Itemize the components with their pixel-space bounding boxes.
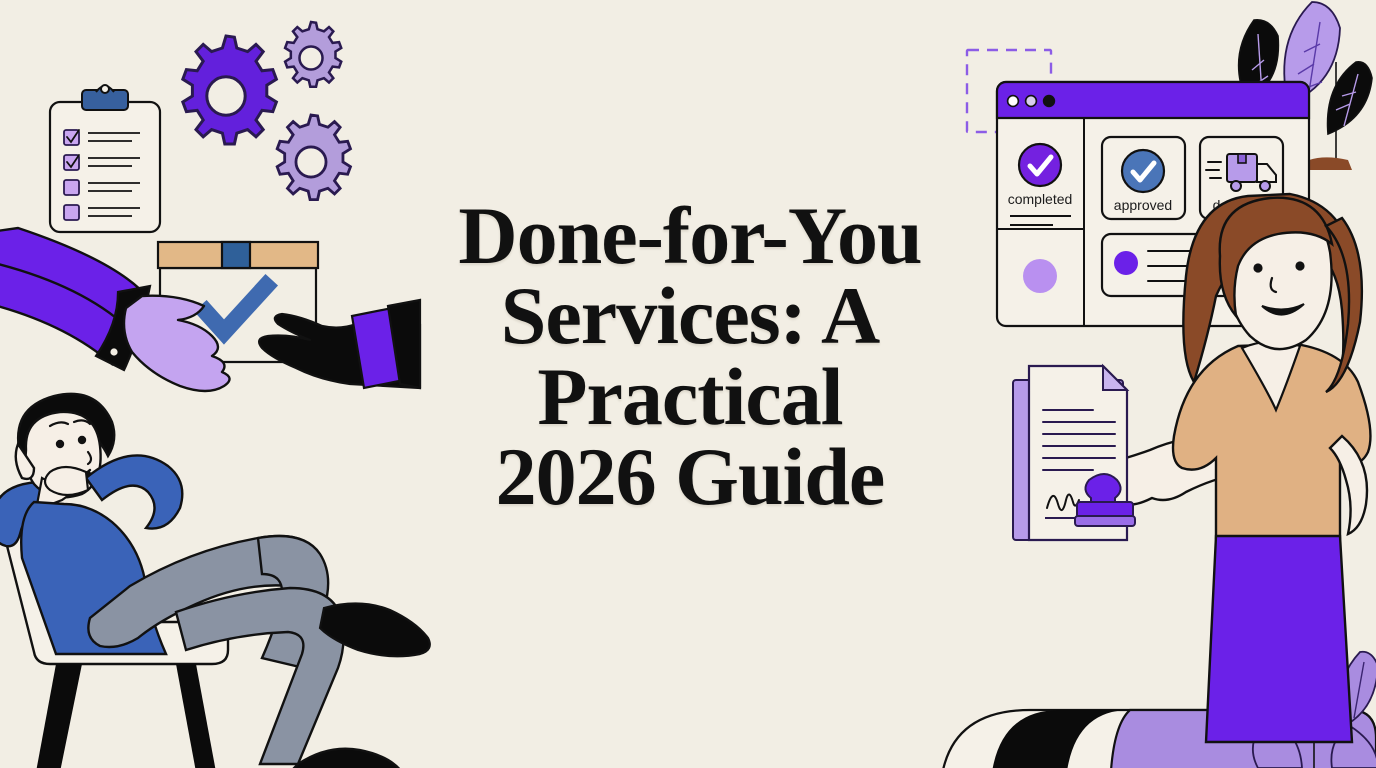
gear-small — [285, 22, 341, 87]
window-dot-2 — [1026, 96, 1037, 107]
headline-line-2: Services: A — [400, 276, 980, 356]
gear-large — [183, 36, 277, 144]
page-title: Done-for-You Services: A Practical 2026 … — [400, 196, 980, 517]
headline-line-3: Practical — [400, 357, 980, 437]
gears-group — [168, 22, 368, 218]
window-dot-1 — [1008, 96, 1019, 107]
gear-medium — [277, 115, 350, 200]
relaxed-man-in-chair — [0, 382, 470, 768]
headline-line-1: Done-for-You — [400, 196, 980, 276]
headline-line-4: 2026 Guide — [400, 437, 980, 517]
sidebar-avatar-dot — [1023, 259, 1057, 293]
window-dot-3 — [1044, 96, 1055, 107]
sidebar-status-label: completed — [1008, 191, 1073, 207]
package-handoff — [0, 232, 420, 402]
hero-banner: completed approved — [0, 0, 1376, 768]
checklist-clipboard — [44, 86, 166, 236]
signed-document-with-stamp — [1005, 358, 1155, 558]
